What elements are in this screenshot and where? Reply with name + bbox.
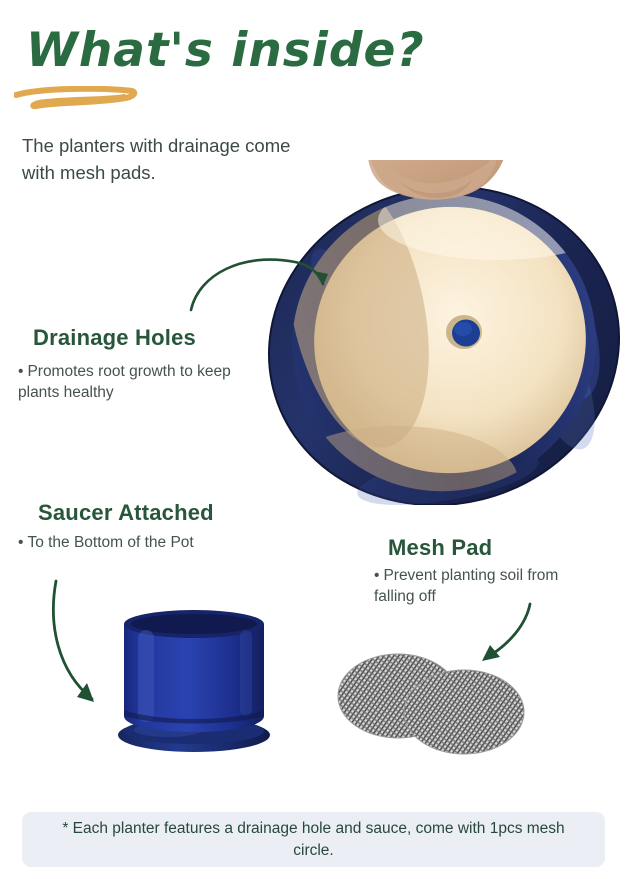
- drainage-arrow-icon: [185, 248, 335, 328]
- infographic-canvas: What's inside? The planters with drainag…: [0, 0, 627, 879]
- small-pot-image: [98, 598, 290, 758]
- bullet-saucer: •: [18, 534, 23, 551]
- footnote-text: * Each planter features a drainage hole …: [48, 818, 579, 861]
- feature-heading-mesh: Mesh Pad: [388, 535, 492, 561]
- main-planter-image: [248, 160, 627, 505]
- page-title: What's inside?: [26, 26, 425, 75]
- bullet-mesh: •: [374, 567, 379, 584]
- feature-body-text-drainage: Promotes root growth to keep plants heal…: [18, 363, 231, 401]
- title-underline-swoosh: [14, 86, 142, 110]
- drainage-hole: [446, 315, 482, 349]
- mesh-disc-front: [404, 670, 524, 754]
- feature-body-saucer: •To the Bottom of the Pot: [18, 533, 268, 554]
- pot-body: [124, 610, 264, 732]
- feature-body-drainage: •Promotes root growth to keep plants hea…: [18, 362, 253, 404]
- footnote-banner: * Each planter features a drainage hole …: [22, 812, 605, 867]
- mesh-pads-image: [330, 648, 536, 760]
- bullet-drainage: •: [18, 363, 23, 380]
- feature-heading-saucer: Saucer Attached: [38, 500, 214, 526]
- feature-heading-drainage: Drainage Holes: [33, 325, 196, 351]
- feature-body-text-saucer: To the Bottom of the Pot: [27, 534, 193, 551]
